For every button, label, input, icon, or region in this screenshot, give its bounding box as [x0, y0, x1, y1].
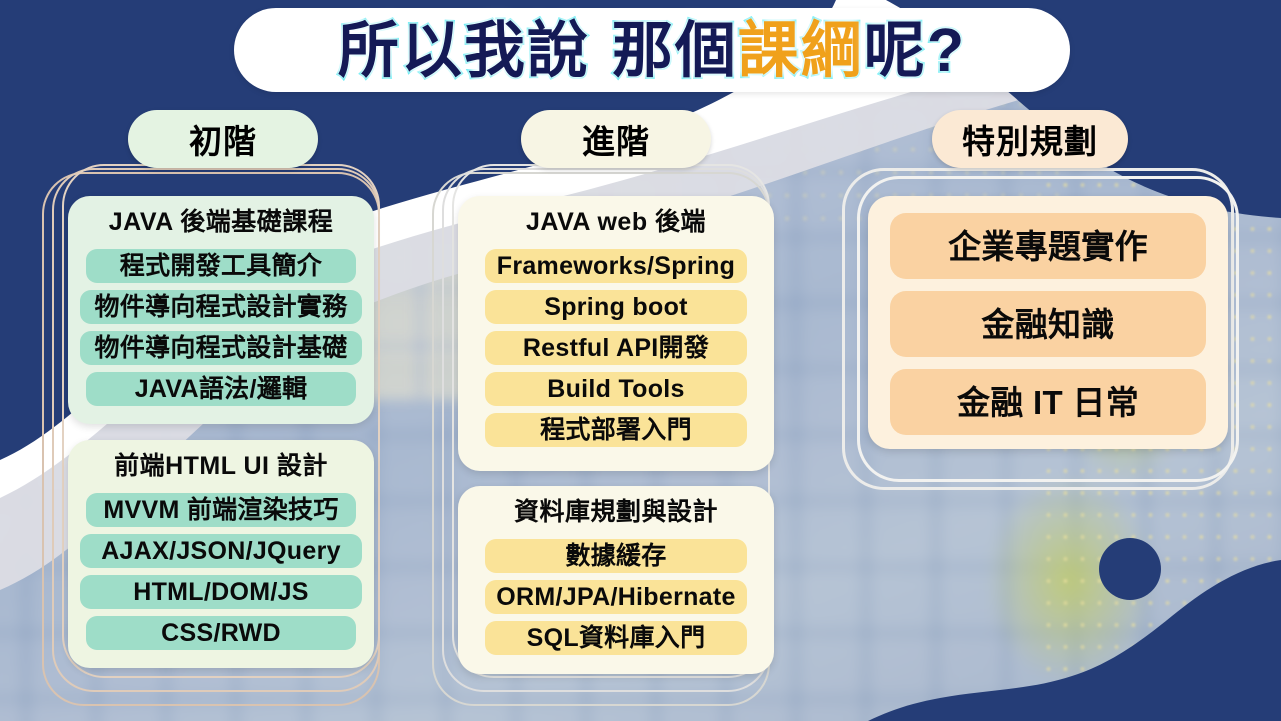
- card-advanced-2-item-1[interactable]: ORM/JPA/Hibernate: [485, 580, 747, 614]
- slide-title: 所以我說 那個 課綱 呢?: [234, 8, 1070, 92]
- card-beginner-1-item-3[interactable]: JAVA語法/邏輯: [86, 372, 356, 406]
- title-segment-0: 所以我說: [338, 20, 590, 81]
- card-beginner-2-item-1[interactable]: AJAX/JSON/JQuery: [80, 534, 362, 568]
- card-beginner-2: 前端HTML UI 設計 MVVM 前端渲染技巧 AJAX/JSON/JQuer…: [68, 440, 374, 668]
- card-advanced-1-item-4[interactable]: 程式部署入門: [485, 413, 747, 447]
- card-special-1-item-0[interactable]: 企業專題實作: [890, 213, 1206, 279]
- card-beginner-2-title: 前端HTML UI 設計: [114, 454, 328, 479]
- card-beginner-1-item-0[interactable]: 程式開發工具簡介: [86, 249, 356, 283]
- column-header-special-label: 特別規劃: [962, 115, 1098, 163]
- card-advanced-1-item-2[interactable]: Restful API開發: [485, 331, 747, 365]
- card-advanced-1: JAVA web 後端 Frameworks/Spring Spring boo…: [458, 196, 774, 471]
- column-header-beginner-label: 初階: [189, 115, 257, 163]
- card-advanced-1-item-0[interactable]: Frameworks/Spring: [485, 249, 747, 283]
- card-beginner-2-item-2[interactable]: HTML/DOM/JS: [80, 575, 362, 609]
- card-advanced-1-title: JAVA web 後端: [526, 210, 706, 235]
- card-special-1-item-1[interactable]: 金融知識: [890, 291, 1206, 357]
- column-header-beginner[interactable]: 初階: [128, 110, 318, 168]
- column-header-special[interactable]: 特別規劃: [932, 110, 1128, 168]
- card-advanced-1-item-3[interactable]: Build Tools: [485, 372, 747, 406]
- card-special-1: 企業專題實作 金融知識 金融 IT 日常: [868, 196, 1228, 449]
- column-header-advanced[interactable]: 進階: [521, 110, 711, 168]
- card-beginner-2-item-3[interactable]: CSS/RWD: [86, 616, 356, 650]
- card-advanced-2-title: 資料庫規劃與設計: [514, 500, 718, 525]
- title-segment-1: 那個: [612, 20, 738, 81]
- card-beginner-2-item-0[interactable]: MVVM 前端渲染技巧: [86, 493, 356, 527]
- title-segment-2-accent: 課綱: [738, 20, 864, 81]
- title-segment-3: 呢?: [864, 20, 966, 81]
- card-special-1-item-2[interactable]: 金融 IT 日常: [890, 369, 1206, 435]
- card-advanced-2: 資料庫規劃與設計 數據緩存 ORM/JPA/Hibernate SQL資料庫入門: [458, 486, 774, 674]
- card-beginner-1: JAVA 後端基礎課程 程式開發工具簡介 物件導向程式設計實務 物件導向程式設計…: [68, 196, 374, 424]
- card-beginner-1-title: JAVA 後端基礎課程: [109, 210, 334, 235]
- card-advanced-2-item-0[interactable]: 數據緩存: [485, 539, 747, 573]
- column-header-advanced-label: 進階: [582, 115, 650, 163]
- card-beginner-1-item-1[interactable]: 物件導向程式設計實務: [80, 290, 362, 324]
- card-advanced-2-item-2[interactable]: SQL資料庫入門: [485, 621, 747, 655]
- card-advanced-1-item-1[interactable]: Spring boot: [485, 290, 747, 324]
- card-beginner-1-item-2[interactable]: 物件導向程式設計基礎: [80, 331, 362, 365]
- slide-canvas: 初階 JAVA 後端基礎課程 程式開發工具簡介 物件導向程式設計實務 物件導向程…: [0, 0, 1281, 721]
